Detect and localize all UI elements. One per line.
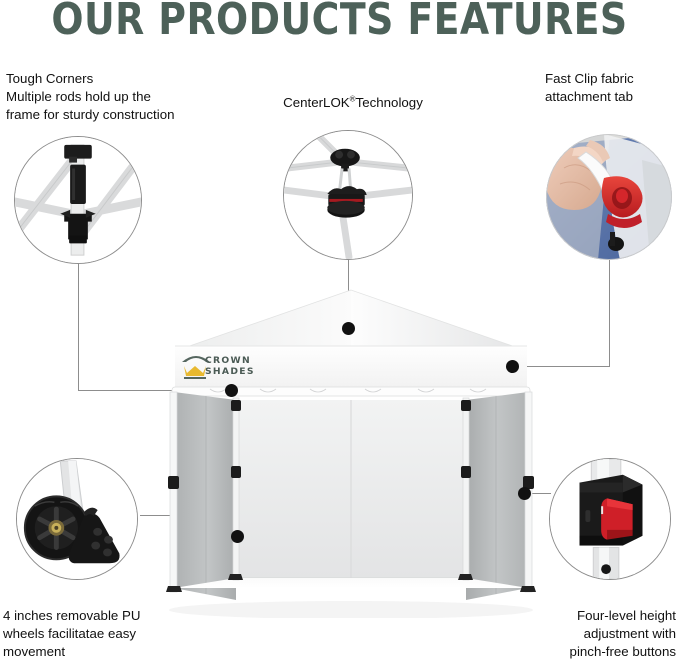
callout-circle-fast-clip [546, 134, 672, 260]
caption-centerlok: CenterLOK®Technology [253, 94, 453, 112]
corner-bracket-top [64, 145, 92, 159]
caption-centerlok-suffix: Technology [356, 95, 423, 110]
tent-sidewall-left [174, 392, 236, 600]
caption-tough-corners: Tough Corners Multiple rods hold up the … [6, 70, 241, 124]
hand-fast-clip-photo [546, 134, 672, 260]
callout-circle-height-adjustment [549, 458, 671, 580]
leg-pin-hole [601, 564, 611, 574]
callout-circle-pu-wheels [16, 458, 138, 580]
caption-fast-clip: Fast Clip fabric attachment tab [545, 70, 679, 106]
frame-corner-connector-photo [15, 137, 141, 263]
logo-block: CROWN SHADES [205, 353, 297, 381]
infographic-root: OUR PRODUCTS FEATURES Tough Corners Mult… [0, 0, 679, 670]
logo-line-1: CROWN [205, 355, 251, 366]
callout-circle-tough-corners [14, 136, 142, 264]
dot-tough-corners [225, 384, 238, 397]
page-title: OUR PRODUCTS FEATURES [48, 0, 632, 43]
logo-line-2: SHADES [205, 366, 255, 377]
tent-floor-shadow [169, 601, 533, 618]
centerlok-hub-photo [284, 131, 412, 259]
dot-height-adjustment [518, 487, 531, 500]
latch-slot [585, 510, 590, 522]
dot-pu-wheels [231, 530, 244, 543]
logo-wordmark: CROWN SHADES [205, 356, 255, 378]
dot-centerlok [342, 322, 355, 335]
canopy-tent-illustration [150, 288, 552, 618]
dot-fast-clip [506, 360, 519, 373]
tent-floor [174, 578, 528, 588]
red-push-button-leg-photo [550, 459, 670, 579]
callout-circle-centerlok [283, 130, 413, 260]
caption-centerlok-prefix: CenterLOK [283, 95, 350, 110]
pu-wheel-photo [17, 459, 137, 579]
